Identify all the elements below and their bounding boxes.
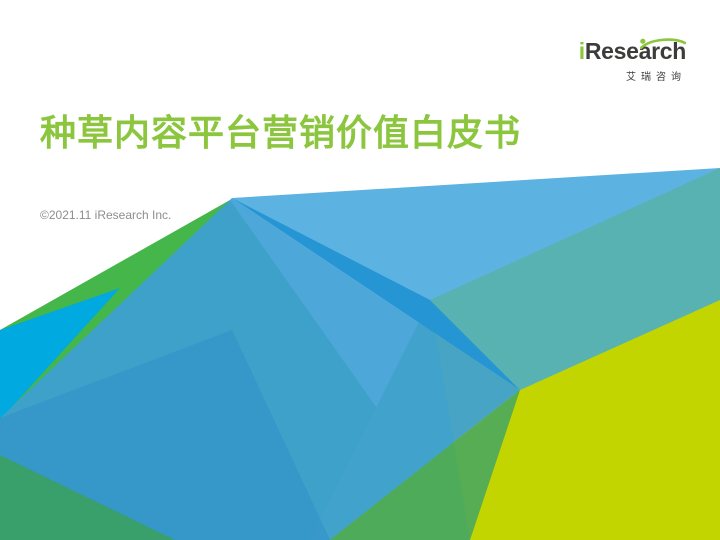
page-title: 种草内容平台营销价值白皮书 [40, 104, 521, 156]
logo-chinese-name: 艾瑞咨询 [566, 68, 686, 83]
logo-swoosh-icon [640, 38, 686, 50]
slide-root: iResearch 艾瑞咨询 种草内容平台营销价值白皮书 ©2021.11 iR… [0, 0, 720, 540]
copyright-text: ©2021.11 iResearch Inc. [40, 208, 171, 222]
iresearch-logo: iResearch 艾瑞咨询 [566, 36, 686, 88]
